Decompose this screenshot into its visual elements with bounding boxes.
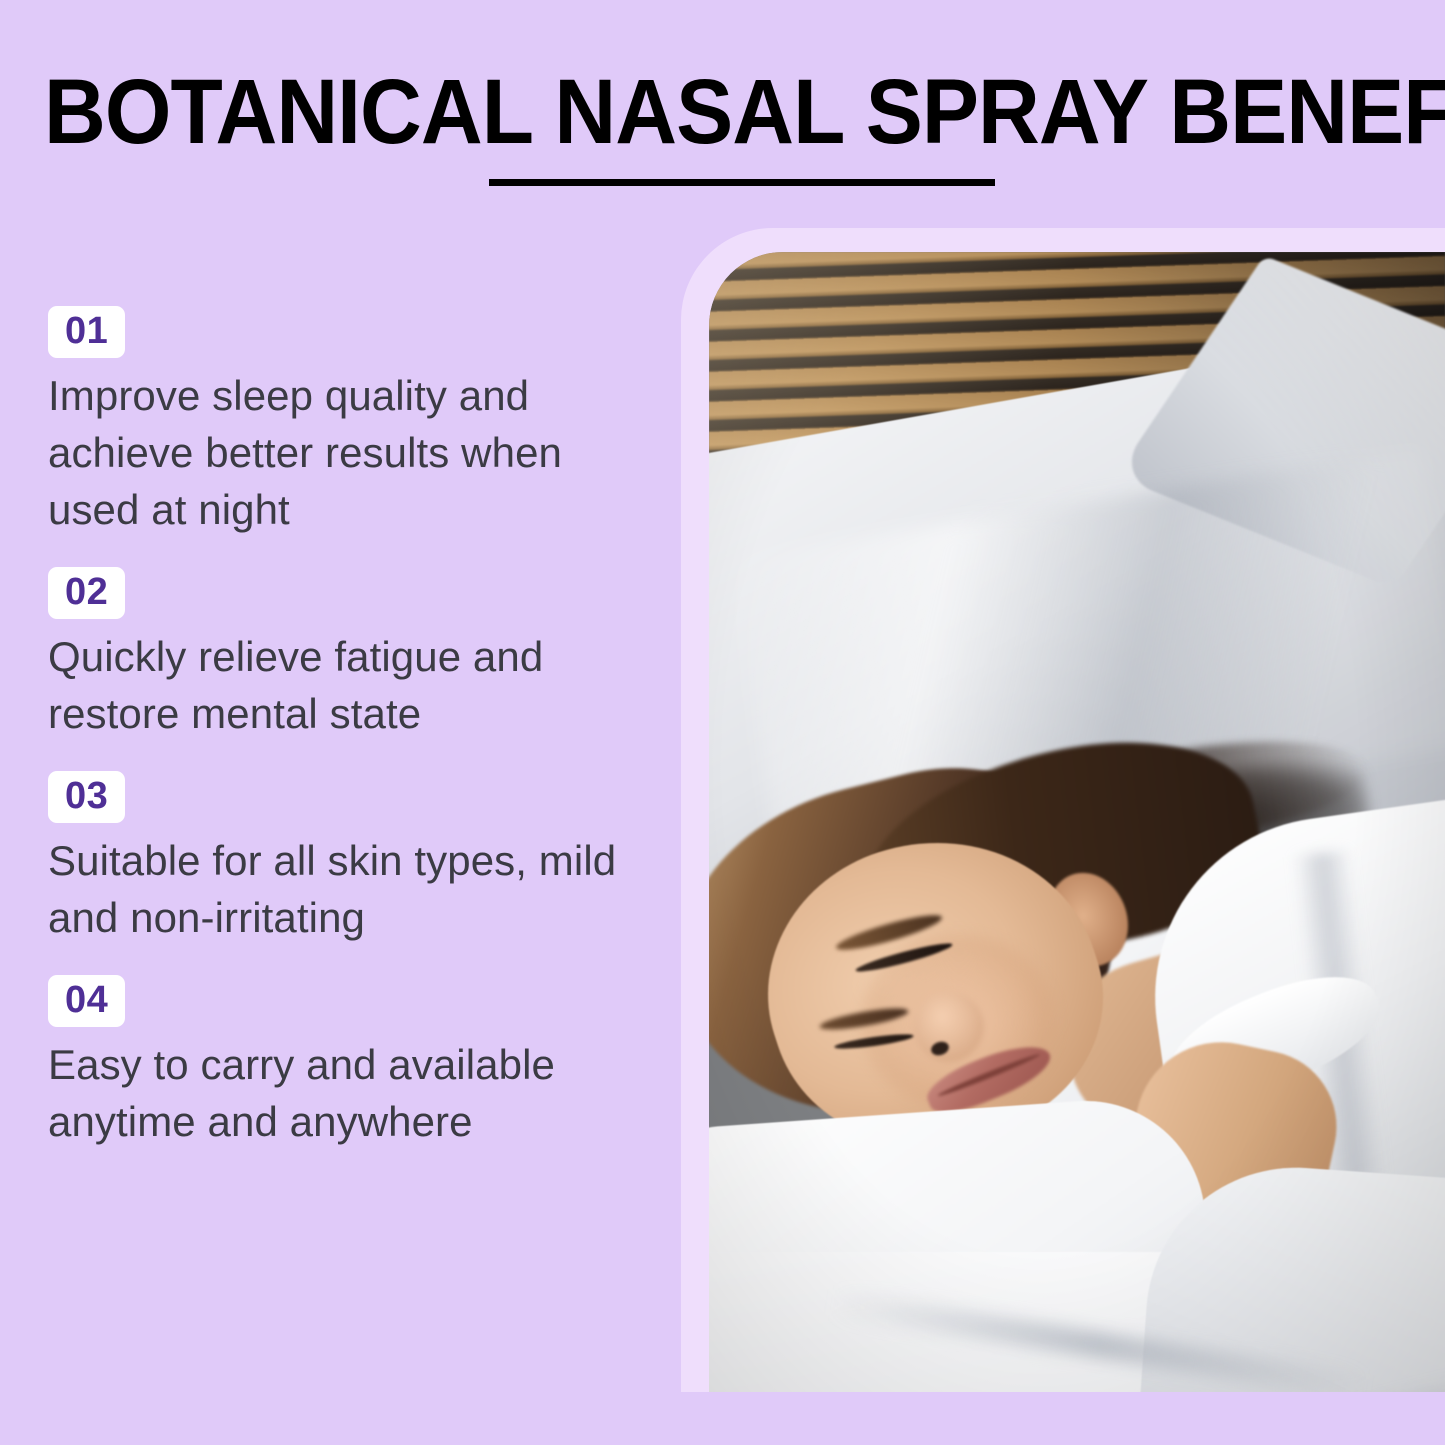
benefit-text: Easy to carry and available anytime and … — [48, 1036, 648, 1150]
benefit-text: Quickly relieve fatigue and restore ment… — [48, 628, 648, 742]
benefit-number-badge: 03 — [48, 771, 125, 823]
hero-photo-sleeping-woman — [709, 252, 1445, 1392]
benefit-number-badge: 01 — [48, 306, 125, 358]
benefits-list: 01 Improve sleep quality and achieve bet… — [48, 306, 658, 1150]
photo-vignette — [709, 252, 1445, 1392]
list-item: 04 Easy to carry and available anytime a… — [48, 975, 658, 1150]
benefit-text: Improve sleep quality and achieve better… — [48, 367, 648, 538]
title-underline — [489, 179, 995, 186]
list-item: 02 Quickly relieve fatigue and restore m… — [48, 567, 658, 742]
list-item: 03 Suitable for all skin types, mild and… — [48, 771, 658, 946]
page-title: BOTANICAL NASAL SPRAY BENEFITS — [44, 66, 1309, 158]
benefit-number-badge: 04 — [48, 975, 125, 1027]
benefit-text: Suitable for all skin types, mild and no… — [48, 832, 648, 946]
infographic-poster: BOTANICAL NASAL SPRAY BENEFITS 01 Improv… — [0, 0, 1445, 1445]
benefit-number-badge: 02 — [48, 567, 125, 619]
list-item: 01 Improve sleep quality and achieve bet… — [48, 306, 658, 538]
